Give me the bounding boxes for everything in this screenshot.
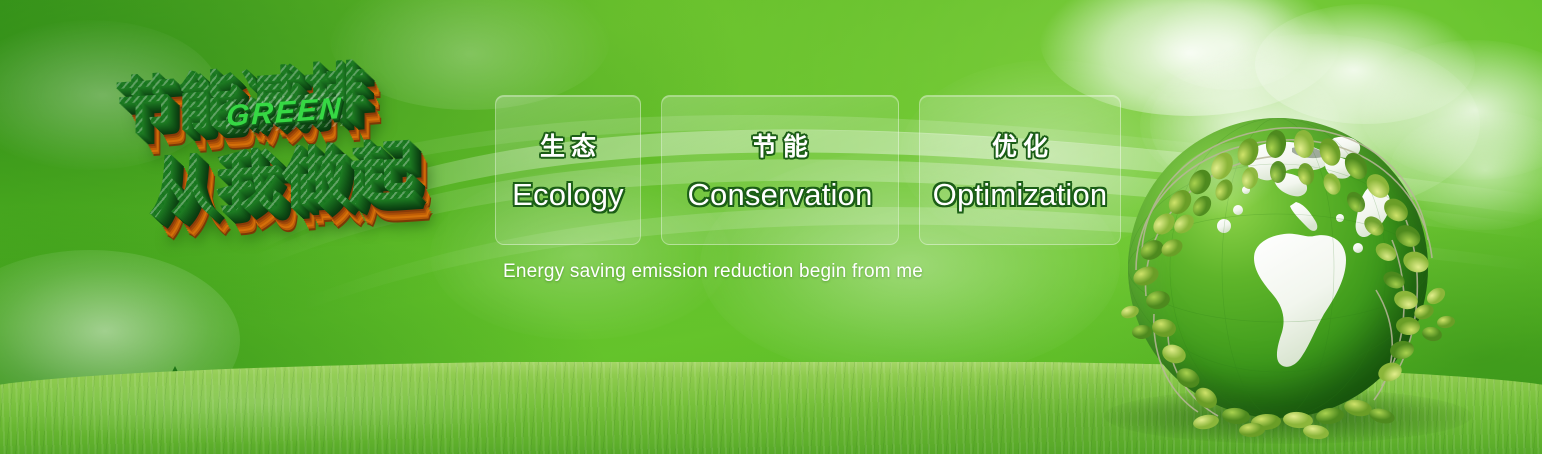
eco-banner: 节能减排 节能减排 从我做起 从我做起 GREEN 生态 Ecology 节能 … [0,0,1542,454]
globe-vines-icon [1106,100,1458,440]
feature-card-optimization[interactable]: 优化 Optimization [919,95,1121,245]
hero-3d-title: 节能减排 节能减排 从我做起 从我做起 GREEN [100,40,500,260]
feature-card-conservation-cn: 节能 [746,127,814,163]
feature-card-ecology-cn: 生态 [534,127,602,163]
tagline: Energy saving emission reduction begin f… [503,261,923,283]
feature-card-optimization-en: Optimization [933,177,1108,213]
earth-globe [1128,118,1448,438]
title-line-2: 从我做起 从我做起 [148,117,415,232]
feature-card-conservation[interactable]: 节能 Conservation [661,95,899,245]
feature-card-conservation-en: Conservation [687,177,872,213]
feature-card-list: 生态 Ecology 节能 Conservation 优化 Optimizati… [495,95,1121,245]
feature-card-optimization-cn: 优化 [986,127,1054,163]
feature-card-ecology[interactable]: 生态 Ecology [495,95,641,245]
feature-card-ecology-en: Ecology [512,177,624,213]
